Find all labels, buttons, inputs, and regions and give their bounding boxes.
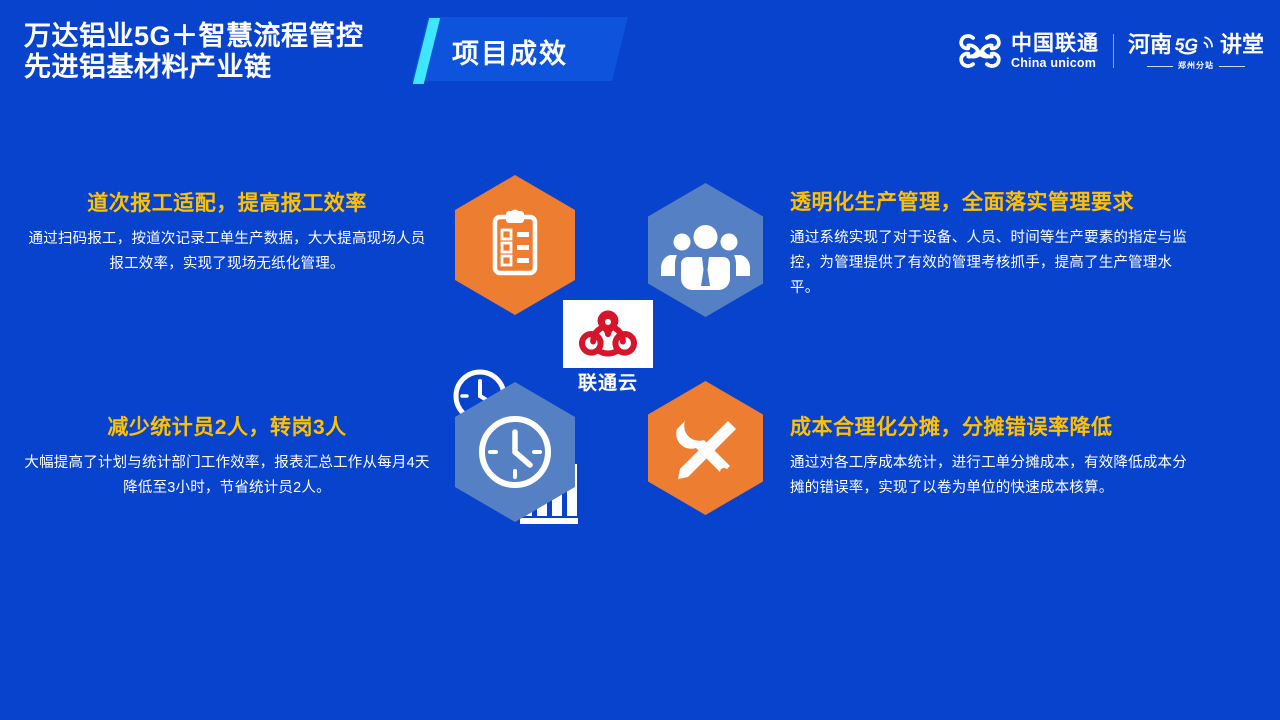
feature-heading: 道次报工适配，提高报工效率: [22, 190, 432, 217]
unicom-name-cn: 中国联通: [1011, 33, 1099, 54]
workshop-label-right: 讲堂: [1220, 34, 1264, 56]
henan-5g-lecture-wordmark: 河南 5G 讲堂: [1128, 32, 1264, 58]
logo-divider: [1113, 34, 1114, 68]
workshop-label-left: 河南: [1128, 34, 1172, 56]
china-unicom-logo: 中国联通 China unicom: [958, 31, 1099, 71]
brand-logo-group: 中国联通 China unicom 河南 5G 讲堂: [958, 22, 1264, 80]
unicom-wordmark: 中国联通 China unicom: [1011, 33, 1099, 70]
feature-body: 通过对各工序成本统计，进行工单分摊成本，有效降低成本分摊的错误率，实现了以卷为单…: [790, 451, 1200, 501]
rule-right: [1219, 66, 1245, 67]
rule-left: [1147, 66, 1173, 67]
page-header: 万达铝业5G＋智慧流程管控 先进铝基材料产业链 项目成效 中国联通: [0, 0, 1280, 108]
feature-heading: 成本合理化分摊，分摊错误率降低: [790, 414, 1200, 441]
workshop-substation: 郑州分站: [1147, 62, 1245, 70]
unicom-cloud-caption: 联通云: [548, 368, 668, 395]
page-title: 万达铝业5G＋智慧流程管控 先进铝基材料产业链: [24, 21, 424, 83]
page-title-line1: 万达铝业5G＋智慧流程管控: [24, 21, 364, 51]
feature-heading: 透明化生产管理，全面落实管理要求: [790, 189, 1200, 216]
feature-block-bottom-left: 减少统计员2人，转岗3人 大幅提高了计划与统计部门工作效率，报表汇总工作从每月4…: [22, 414, 432, 501]
feature-block-top-right: 透明化生产管理，全面落实管理要求 通过系统实现了对于设备、人员、时间等生产要素的…: [790, 189, 1200, 301]
unicom-knot-icon: [958, 31, 1002, 71]
feature-block-top-left: 道次报工适配，提高报工效率 通过扫码报工，按道次记录工单生产数据，大大提高现场人…: [22, 190, 432, 277]
unicom-cloud-logo: [563, 300, 653, 368]
five-g-icon: 5G: [1174, 32, 1218, 58]
unicom-cloud-knot-icon: [577, 308, 639, 360]
section-label: 项目成效: [452, 32, 568, 71]
feature-block-bottom-right: 成本合理化分摊，分摊错误率降低 通过对各工序成本统计，进行工单分摊成本，有效降低…: [790, 414, 1200, 501]
workshop-substation-label: 郑州分站: [1178, 62, 1214, 70]
feature-heading: 减少统计员2人，转岗3人: [22, 414, 432, 441]
feature-body: 通过扫码报工，按道次记录工单生产数据，大大提高现场人员报工效率，实现了现场无纸化…: [22, 227, 432, 277]
henan-5g-lecture-logo: 河南 5G 讲堂 郑州分站: [1128, 32, 1264, 70]
feature-body: 大幅提高了计划与统计部门工作效率，报表汇总工作从每月4天降低至3小时，节省统计员…: [22, 451, 432, 501]
page-title-line2: 先进铝基材料产业链: [24, 52, 424, 83]
unicom-name-en: China unicom: [1011, 57, 1099, 70]
feature-body: 通过系统实现了对于设备、人员、时间等生产要素的指定与监控，为管理提供了有效的管理…: [790, 226, 1200, 301]
